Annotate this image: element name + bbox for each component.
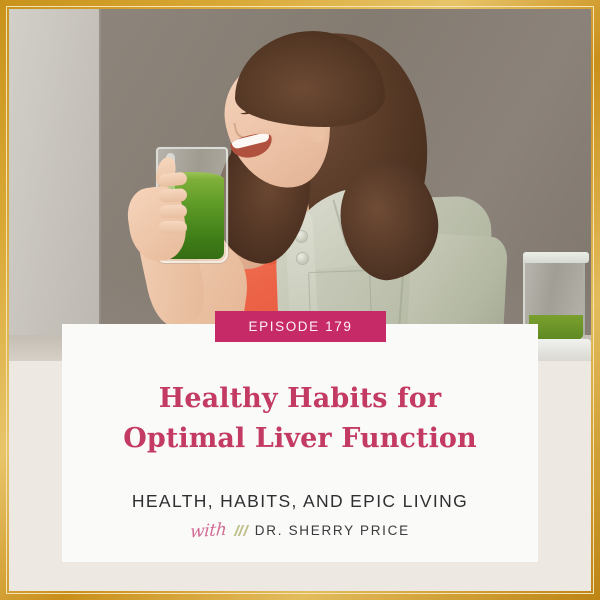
title-card: Healthy Habits for Optimal Liver Functio… [62, 324, 538, 562]
podcast-cover: Healthy Habits for Optimal Liver Functio… [0, 0, 600, 600]
host-name: DR. SHERRY PRICE [255, 523, 410, 538]
finger-3 [159, 205, 187, 219]
episode-badge-label: EPISODE 179 [249, 319, 353, 334]
host-byline: with DR. SHERRY PRICE [190, 521, 410, 541]
finger-2 [159, 188, 188, 203]
shirt-button-bottom [297, 253, 308, 264]
cover-canvas: Healthy Habits for Optimal Liver Functio… [9, 9, 591, 591]
episode-title: Healthy Habits for Optimal Liver Functio… [62, 379, 538, 459]
episode-title-line-2: Optimal Liver Function [62, 419, 538, 459]
hero-photo [9, 9, 591, 361]
triple-slash-icon [236, 525, 247, 536]
finger-4 [159, 221, 187, 234]
episode-title-line-1: Healthy Habits for [62, 379, 538, 419]
woman-subject [9, 9, 591, 361]
episode-badge: EPISODE 179 [215, 311, 386, 342]
show-name: HEALTH, HABITS, AND EPIC LIVING [132, 491, 468, 512]
with-script-word: with [190, 520, 228, 543]
